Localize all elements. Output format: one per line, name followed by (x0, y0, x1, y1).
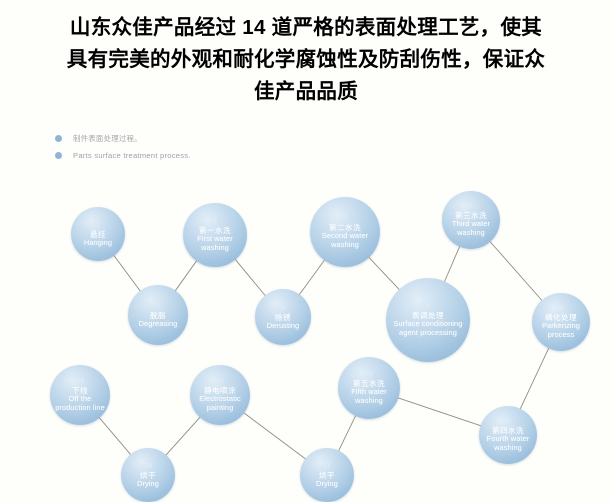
process-node-1[interactable]: 1悬挂Hanging (71, 207, 125, 261)
headline-line-3: 佳产品品质 (18, 76, 594, 108)
node-label-en: First water washing (183, 235, 247, 252)
connector-line (396, 397, 482, 426)
process-node-5[interactable]: 5第二水洗Second water washing (310, 197, 380, 267)
node-label-en: Off the production line (50, 395, 110, 412)
node-number: 9 (506, 417, 510, 425)
node-label-en: Drying (314, 480, 340, 489)
connector-line (242, 412, 307, 460)
connector-line (98, 416, 132, 456)
node-label-en: Hanging (82, 239, 114, 248)
process-node-10[interactable]: 10第五水洗Fifth water washing (338, 357, 400, 419)
node-number: 6 (426, 302, 430, 310)
node-label-en: Surface conditioning agent processing (386, 320, 470, 337)
connector-line (368, 256, 401, 291)
legend-item-en: Parts surface treatment process. (55, 147, 191, 164)
node-number: 1 (96, 221, 100, 229)
legend-item-cn: 制件表面处理过程。 (55, 130, 191, 147)
node-label-en: Degreasing (137, 320, 180, 329)
node-label-en: Derusting (265, 322, 302, 331)
node-label-en: Electrostatic painting (190, 395, 250, 412)
process-infographic: 山东众佳产品经过 14 道严格的表面处理工艺，使其 具有完美的外观和耐化学腐蚀性… (0, 0, 612, 500)
node-label-en: Fifth water washing (338, 388, 400, 405)
node-number: 3 (213, 217, 217, 225)
legend-label-cn: 制件表面处理过程。 (73, 133, 142, 144)
node-number: 14 (76, 377, 84, 385)
node-label-en: Parkerizing process (532, 322, 590, 339)
connector-line (519, 346, 549, 410)
node-number: 11 (323, 462, 331, 470)
connector-line (165, 416, 202, 457)
process-node-14[interactable]: 14下线Off the production line (50, 365, 110, 425)
process-flow-diagram: 1悬挂Hanging2脱脂Degreasing3第一水洗First water … (0, 175, 612, 500)
connector-line (234, 258, 266, 297)
process-node-6[interactable]: 6表调处理Surface conditioning agent processi… (386, 278, 470, 362)
process-node-12[interactable]: 12静电喷涂Electrostatic painting (190, 365, 250, 425)
node-number: 4 (281, 304, 285, 312)
node-number: 13 (144, 462, 152, 470)
legend: 制件表面处理过程。 Parts surface treatment proces… (55, 130, 191, 164)
bullet-dot-icon (55, 135, 62, 142)
bullet-dot-icon (55, 152, 62, 159)
process-node-9[interactable]: 9第四水洗Fourth water washing (479, 406, 537, 464)
node-label-en: Drying (135, 480, 161, 489)
node-number: 8 (559, 304, 563, 312)
connector-line (298, 259, 325, 296)
headline-line-2: 具有完美的外观和耐化学腐蚀性及防刮伤性，保证众 (18, 44, 594, 76)
node-number: 2 (156, 302, 160, 310)
process-node-13[interactable]: 13烘干Drying (121, 448, 175, 502)
connector-line (174, 259, 197, 292)
process-node-11[interactable]: 11烘干Drying (300, 448, 354, 502)
node-label-en: Fourth water washing (479, 435, 537, 452)
node-label-en: Second water washing (310, 232, 380, 249)
legend-label-en: Parts surface treatment process. (73, 151, 191, 160)
process-node-4[interactable]: 4除锈Derusting (255, 289, 311, 345)
node-number: 7 (469, 202, 473, 210)
connector-line (338, 414, 357, 452)
page-title: 山东众佳产品经过 14 道严格的表面处理工艺，使其 具有完美的外观和耐化学腐蚀性… (0, 0, 612, 108)
node-label-en: Third water washing (442, 220, 500, 237)
connector-line (113, 254, 141, 292)
process-node-8[interactable]: 8磷化处理Parkerizing process (532, 293, 590, 351)
process-node-7[interactable]: 7第三水洗Third water washing (442, 191, 500, 249)
process-node-2[interactable]: 2脱脂Degreasing (128, 285, 188, 345)
connector-line (489, 240, 543, 302)
process-node-3[interactable]: 3第一水洗First water washing (183, 203, 247, 267)
node-number: 10 (365, 370, 373, 378)
node-number: 12 (216, 377, 224, 385)
headline-line-1: 山东众佳产品经过 14 道严格的表面处理工艺，使其 (18, 12, 594, 44)
node-number: 5 (343, 214, 347, 222)
connector-line (444, 245, 461, 283)
